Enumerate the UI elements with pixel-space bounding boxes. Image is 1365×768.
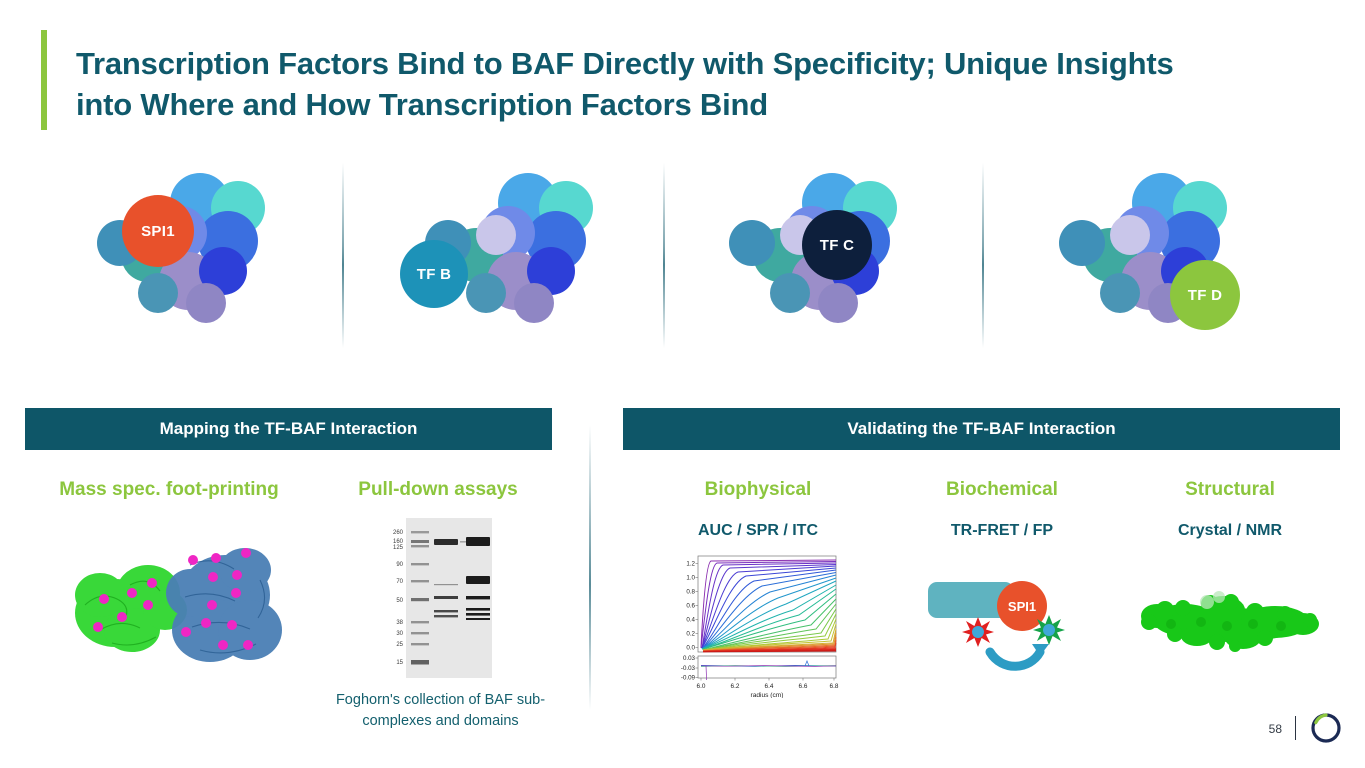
svg-text:6.8: 6.8 bbox=[830, 683, 839, 690]
page-title: Transcription Factors Bind to BAF Direct… bbox=[76, 44, 1196, 126]
auc-sedimentation-chart: 1.2 1.0 0.8 0.6 0.4 0.2 0.0 bbox=[665, 552, 845, 698]
subheading-biochemical: Biochemical bbox=[892, 479, 1112, 501]
baf-complex-structure-icon bbox=[88, 163, 298, 348]
tf-label-circle-spi1: SPI1 bbox=[122, 195, 194, 267]
tf-label-circle-tfd: TF D bbox=[1170, 260, 1240, 330]
svg-text:6.6: 6.6 bbox=[799, 683, 808, 690]
tf-panel-tfb: TF B bbox=[368, 155, 688, 355]
svg-text:30: 30 bbox=[396, 631, 403, 637]
acceptor-fluorophore-icon bbox=[1033, 615, 1065, 645]
svg-text:6.0: 6.0 bbox=[697, 683, 706, 690]
svg-text:1.2: 1.2 bbox=[686, 561, 695, 568]
page-number: 58 bbox=[1269, 722, 1282, 736]
subheading-structural: Structural bbox=[1130, 479, 1330, 501]
section-header-validating-label: Validating the TF-BAF Interaction bbox=[847, 419, 1115, 439]
tf-panel-tfd: TF D bbox=[1010, 155, 1330, 355]
company-logo-icon bbox=[1307, 708, 1345, 746]
section-header-validating: Validating the TF-BAF Interaction bbox=[623, 408, 1340, 450]
svg-text:90: 90 bbox=[396, 562, 403, 568]
title-accent-bar bbox=[41, 30, 47, 130]
panel-divider-3 bbox=[982, 163, 984, 348]
methods-structural: Crystal / NMR bbox=[1130, 522, 1330, 540]
section-divider bbox=[589, 425, 591, 710]
subheading-biophysical: Biophysical bbox=[643, 479, 873, 501]
svg-text:6.4: 6.4 bbox=[765, 683, 774, 690]
svg-text:38: 38 bbox=[396, 620, 403, 626]
svg-text:6.2: 6.2 bbox=[731, 683, 740, 690]
svg-text:125: 125 bbox=[393, 545, 404, 551]
chart-x-axis-label: radius (cm) bbox=[751, 692, 784, 698]
svg-text:-0.09: -0.09 bbox=[681, 675, 696, 682]
svg-text:0.6: 0.6 bbox=[686, 603, 695, 610]
tf-baf-binding-strip: SPI1 TF B bbox=[0, 155, 1365, 370]
svg-text:0.2: 0.2 bbox=[686, 631, 695, 638]
svg-text:70: 70 bbox=[396, 579, 403, 585]
svg-text:-0.03: -0.03 bbox=[681, 665, 696, 672]
tf-panel-tfc: TF C bbox=[690, 155, 1010, 355]
spi1-label: SPI1 bbox=[1008, 599, 1036, 614]
methods-biochemical: TR-FRET / FP bbox=[892, 522, 1112, 540]
methods-biophysical: AUC / SPR / ITC bbox=[643, 522, 873, 540]
section-header-mapping: Mapping the TF-BAF Interaction bbox=[25, 408, 552, 450]
mass-spec-footprint-structure-icon bbox=[60, 535, 285, 675]
pull-down-caption: Foghorn's collection of BAF sub-complexe… bbox=[318, 690, 563, 732]
svg-text:0.0: 0.0 bbox=[686, 645, 695, 652]
panel-divider-1 bbox=[342, 163, 344, 348]
svg-text:1.0: 1.0 bbox=[686, 575, 695, 582]
tf-label-text: TF B bbox=[417, 266, 452, 283]
panel-divider-2 bbox=[663, 163, 665, 348]
tf-panel-spi1: SPI1 bbox=[40, 155, 360, 355]
fret-energy-transfer-arrow bbox=[990, 652, 1040, 666]
donor-fluorophore-icon bbox=[962, 617, 994, 647]
tf-label-circle-tfc: TF C bbox=[802, 210, 872, 280]
tf-label-text: TF C bbox=[820, 237, 855, 254]
svg-text:15: 15 bbox=[396, 660, 403, 666]
sds-page-gel-image: 260 160 125 90 70 50 38 30 25 15 bbox=[380, 518, 492, 678]
svg-text:0.8: 0.8 bbox=[686, 589, 695, 596]
svg-text:0.4: 0.4 bbox=[686, 617, 695, 624]
svg-text:25: 25 bbox=[396, 642, 403, 648]
subheading-mass-spec: Mass spec. foot-printing bbox=[38, 479, 300, 501]
svg-text:0.03: 0.03 bbox=[683, 655, 696, 662]
footer-divider bbox=[1295, 716, 1296, 740]
tf-label-circle-tfb: TF B bbox=[400, 240, 468, 308]
tf-label-text: TF D bbox=[1188, 287, 1223, 304]
svg-text:50: 50 bbox=[396, 598, 403, 604]
crystal-structure-surface-icon bbox=[1135, 580, 1325, 662]
svg-text:260: 260 bbox=[393, 530, 404, 536]
tr-fret-assay-diagram: SPI1 bbox=[918, 568, 1086, 676]
tf-label-text: SPI1 bbox=[141, 223, 175, 240]
section-header-mapping-label: Mapping the TF-BAF Interaction bbox=[160, 419, 418, 439]
subheading-pull-down: Pull-down assays bbox=[322, 479, 554, 501]
